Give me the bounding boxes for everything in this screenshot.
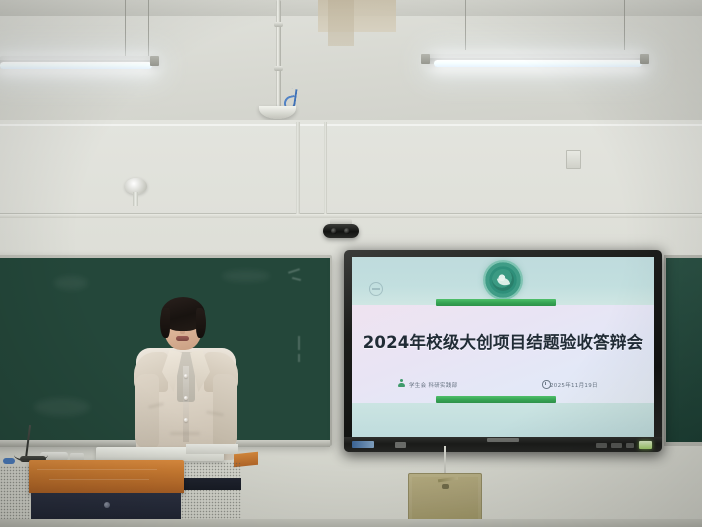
presentation-slide: 2024年校级大创项目结题验收答辩会 学生会 科研实践部 2025年11月19日 [352,257,654,437]
podium-right-dark-strip [183,478,241,490]
display-control-button-1[interactable] [596,443,607,448]
slide-title: 2024年校级大创项目结题验收答辩会 [352,329,654,353]
slide-accent-bar-bottom [436,396,556,403]
wall-conduit-vertical [296,122,300,218]
pole-joint-upper [274,22,283,27]
slide-body-band [352,305,654,403]
podium-speaker-right [181,462,241,527]
desk-item-blue-tag [3,458,15,464]
wall-conduit-vertical-2 [324,122,327,218]
floor-edge [0,519,702,527]
coat-button-2 [184,396,188,400]
display-control-button-2[interactable] [611,443,622,448]
presenter [136,300,236,460]
camera-lens-right [344,228,350,234]
ceiling-patch-secondary [328,0,354,46]
blackboard-smudge-2 [222,270,270,282]
slide-date: 2025年11月19日 [550,381,598,389]
coat-button-1 [184,374,188,378]
presenter-mouth [176,336,189,341]
presenter-hair-left [160,308,170,338]
podium-shelf-right [186,444,238,454]
presenter-arm-left [135,374,159,448]
wall-seam-upper [0,124,702,126]
podium-lock-knob[interactable] [104,502,110,508]
ceiling-light-left-tube [0,62,152,69]
slide-accent-bar-top [436,299,556,306]
light-hanger-wire-left-2 [148,0,149,58]
coat-button-3 [184,418,188,422]
smoke-detector-stem [133,192,138,206]
access-panel-latch [442,484,449,489]
slide-presenter: 学生会 科研实践部 [409,381,457,389]
display-control-button-3[interactable] [626,443,634,448]
smart-display-screen[interactable]: 2024年校级大创项目结题验收答辩会 学生会 科研实践部 2025年11月19日 [352,257,654,437]
blackboard-right-panel [666,258,702,442]
wall-conduit-horizontal [0,214,702,218]
podium-grain-2 [49,479,149,480]
ceiling-light-right-endcap [421,54,430,64]
ceiling-light-left-endcap [150,56,159,66]
slide-bottom-band [352,403,654,437]
blackboard-smudge-1 [54,276,88,290]
access-panel-wire [444,446,446,476]
blackboard-chalk-mark-4 [298,354,300,362]
presenter-arm-right [213,374,237,448]
classroom-photo: 2024年校级大创项目结题验收答辩会 学生会 科研实践部 2025年11月19日 [0,0,702,527]
slide-watermark-icon [369,282,383,296]
blackboard-chalk-mark-1 [288,268,300,274]
blackboard-chalk-mark-3 [298,336,300,350]
ceiling-light-right-endcap-2 [640,54,649,64]
ceiling-light-right-tube [434,60,642,67]
light-hanger-wire-right-2 [624,0,625,50]
person-icon [398,379,405,387]
podium-speaker-left [0,466,30,527]
wall-camera-bar [323,224,359,238]
presenter-hair-right [196,308,206,338]
podium-wood-top [29,460,184,493]
coat-fold-3 [170,432,200,435]
pole-joint-lower [274,66,283,71]
display-power-led [639,441,652,449]
display-sticker-left [352,441,374,448]
display-brand-mark [487,438,519,442]
wall-outlet-plate [566,150,581,169]
display-sticker-left-2 [395,442,406,448]
blackboard-chalk-mark-2 [292,277,301,281]
light-hanger-wire-left [125,0,126,58]
camera-lens-left [331,228,337,234]
light-hanger-wire-right [465,0,466,50]
blackboard-smudge-3 [34,398,90,416]
podium-grain-1 [37,469,157,470]
